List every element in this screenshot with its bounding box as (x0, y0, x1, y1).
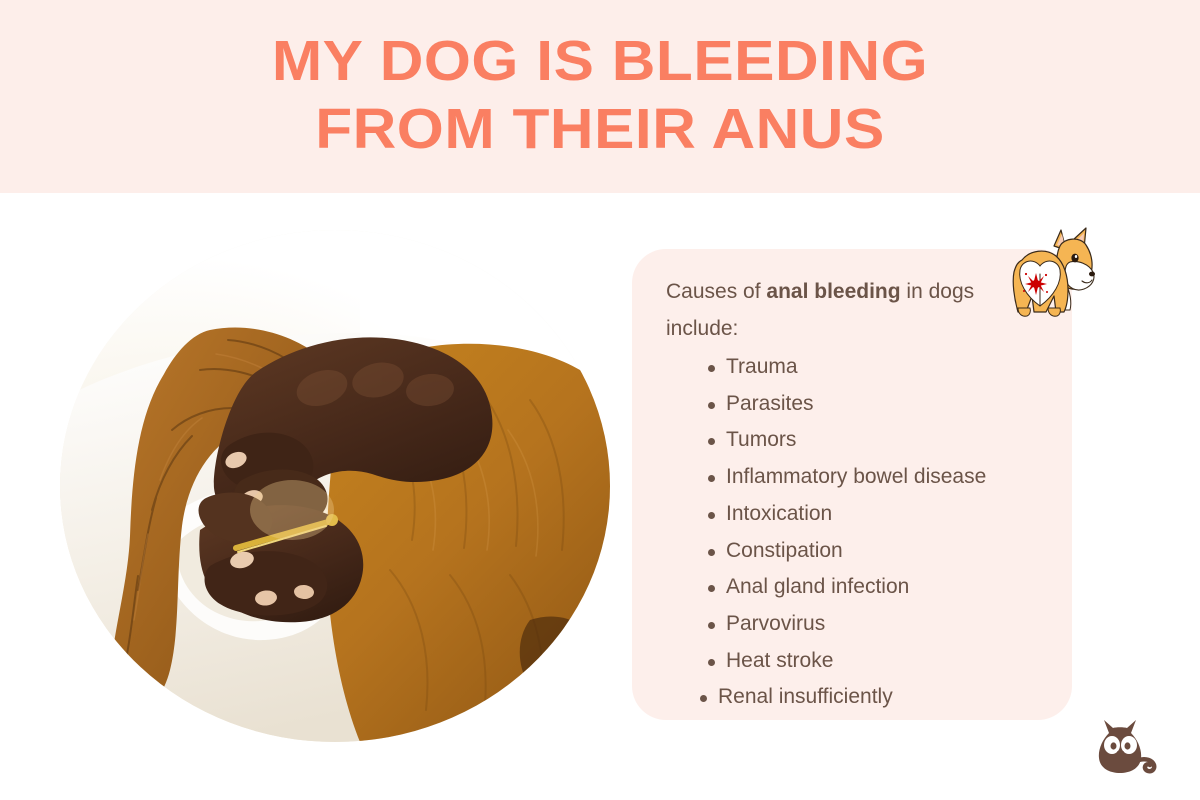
list-item: Heat stroke (666, 643, 1054, 680)
list-item: Parasites (666, 386, 1054, 423)
vet-examining-dog-photo (60, 230, 610, 742)
vet-photo-illustration (60, 230, 610, 742)
list-item: Renal insufficiently (666, 679, 1054, 716)
list-item: Constipation (666, 533, 1054, 570)
corgi-svg (1004, 218, 1108, 322)
list-item: Anal gland infection (666, 569, 1054, 606)
header-band: MY DOG IS BLEEDING FROM THEIR ANUS (0, 0, 1200, 193)
corgi-rear-with-blood-splatter-icon (1004, 218, 1108, 322)
heading-prefix: Causes of (666, 280, 766, 303)
list-item: Intoxication (666, 496, 1054, 533)
causes-card-heading: Causes of anal bleeding in dogs include: (666, 273, 976, 347)
list-item: Parvovirus (666, 606, 1054, 643)
list-item: Inflammatory bowel disease (666, 459, 1054, 496)
page-title: MY DOG IS BLEEDING FROM THEIR ANUS (0, 27, 1200, 163)
list-item: Tumors (666, 422, 1054, 459)
cat-logo-svg (1084, 702, 1160, 778)
heading-bold-term: anal bleeding (766, 280, 900, 303)
causes-list: Trauma Parasites Tumors Inflammatory bow… (666, 349, 1054, 716)
cat-logo-icon (1084, 702, 1160, 778)
list-item: Trauma (666, 349, 1054, 386)
